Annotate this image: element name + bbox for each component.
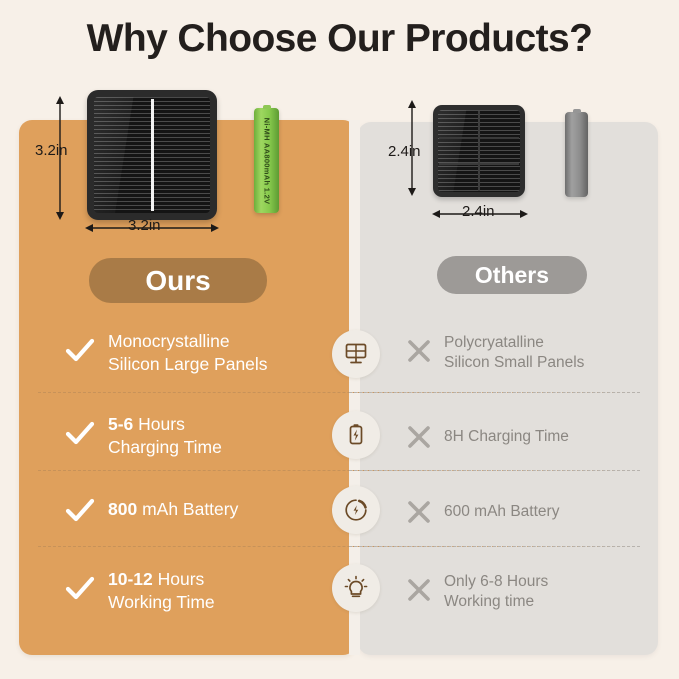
- others-feature-3-text: 600 mAh Battery: [444, 502, 559, 522]
- cross-icon: [405, 498, 439, 532]
- ours-feature-4-strong: 10-12: [108, 569, 153, 589]
- ours-solar-panel-image: [87, 90, 217, 220]
- others-feature-1-line2: Silicon Small Panels: [444, 354, 584, 371]
- row-divider: [38, 546, 640, 547]
- solar-busbar: [151, 99, 154, 211]
- cross-icon: [405, 337, 439, 371]
- ours-feature-4-text: 10-12 Hours Working Time: [108, 568, 215, 614]
- others-solar-panel-image: [433, 105, 525, 197]
- others-width-dimension: 2.4in: [462, 203, 495, 220]
- cross-icon: [405, 423, 439, 457]
- others-feature-4-line1: Only 6-8 Hours: [444, 573, 548, 590]
- others-feature-4-text: Only 6-8 Hours Working time: [444, 572, 548, 613]
- others-label-pill: Others: [437, 256, 587, 294]
- others-battery-image: [565, 112, 588, 197]
- ours-feature-2-line2: Charging Time: [108, 437, 222, 457]
- ours-feature-2-strong: 5-6: [108, 414, 133, 434]
- ours-feature-2-text: 5-6 Hours Charging Time: [108, 413, 222, 459]
- battery-bolt-icon: [332, 411, 380, 459]
- ours-feature-4-line1: Hours: [153, 569, 205, 589]
- ours-battery-image: Ni-MH AA800mAh 1.2V: [254, 108, 279, 213]
- battery-terminal: [263, 105, 271, 109]
- ours-feature-1-line2: Silicon Large Panels: [108, 354, 268, 374]
- check-icon: [63, 572, 97, 606]
- solar-crossbar: [439, 137, 519, 139]
- page-title: Why Choose Our Products?: [0, 17, 679, 61]
- others-height-dimension: 2.4in: [388, 143, 421, 160]
- ours-feature-1-line1: Monocrystalline: [108, 331, 230, 351]
- ours-feature-1-text: Monocrystalline Silicon Large Panels: [108, 330, 268, 376]
- solar-busbar: [478, 111, 480, 191]
- others-feature-1-text: Polycryatalline Silicon Small Panels: [444, 333, 584, 374]
- others-feature-4-line2: Working time: [444, 593, 534, 610]
- ours-label-pill: Ours: [89, 258, 267, 303]
- ours-feature-3-line1: mAh Battery: [137, 499, 238, 519]
- check-icon: [63, 417, 97, 451]
- ours-feature-2-line1: Hours: [133, 414, 185, 434]
- ours-width-dimension: 3.2in: [128, 217, 161, 234]
- solar-crossbar: [439, 163, 519, 165]
- ours-height-dimension: 3.2in: [35, 142, 68, 159]
- others-feature-1-line1: Polycryatalline: [444, 334, 544, 351]
- ours-feature-4-line2: Working Time: [108, 592, 215, 612]
- check-icon: [63, 494, 97, 528]
- solar-cell-surface: [438, 110, 520, 192]
- check-icon: [63, 334, 97, 368]
- ours-feature-3-strong: 800: [108, 499, 137, 519]
- battery-terminal: [573, 109, 581, 113]
- others-feature-2-text: 8H Charging Time: [444, 427, 569, 447]
- row-divider: [38, 470, 640, 471]
- solar-cell-surface: [94, 97, 210, 213]
- others-feature-2-line1: 8H Charging Time: [444, 428, 569, 445]
- cross-icon: [405, 576, 439, 610]
- others-feature-3-line1: 600 mAh Battery: [444, 503, 559, 520]
- solar-panel-icon: [332, 330, 380, 378]
- charge-cycle-icon: [332, 486, 380, 534]
- lightbulb-icon: [332, 564, 380, 612]
- ours-battery-label: Ni-MH AA800mAh 1.2V: [262, 117, 271, 204]
- row-divider: [38, 392, 640, 393]
- comparison-infographic: Why Choose Our Products? Ni-MH AA800mAh …: [0, 0, 679, 679]
- ours-feature-3-text: 800 mAh Battery: [108, 498, 238, 521]
